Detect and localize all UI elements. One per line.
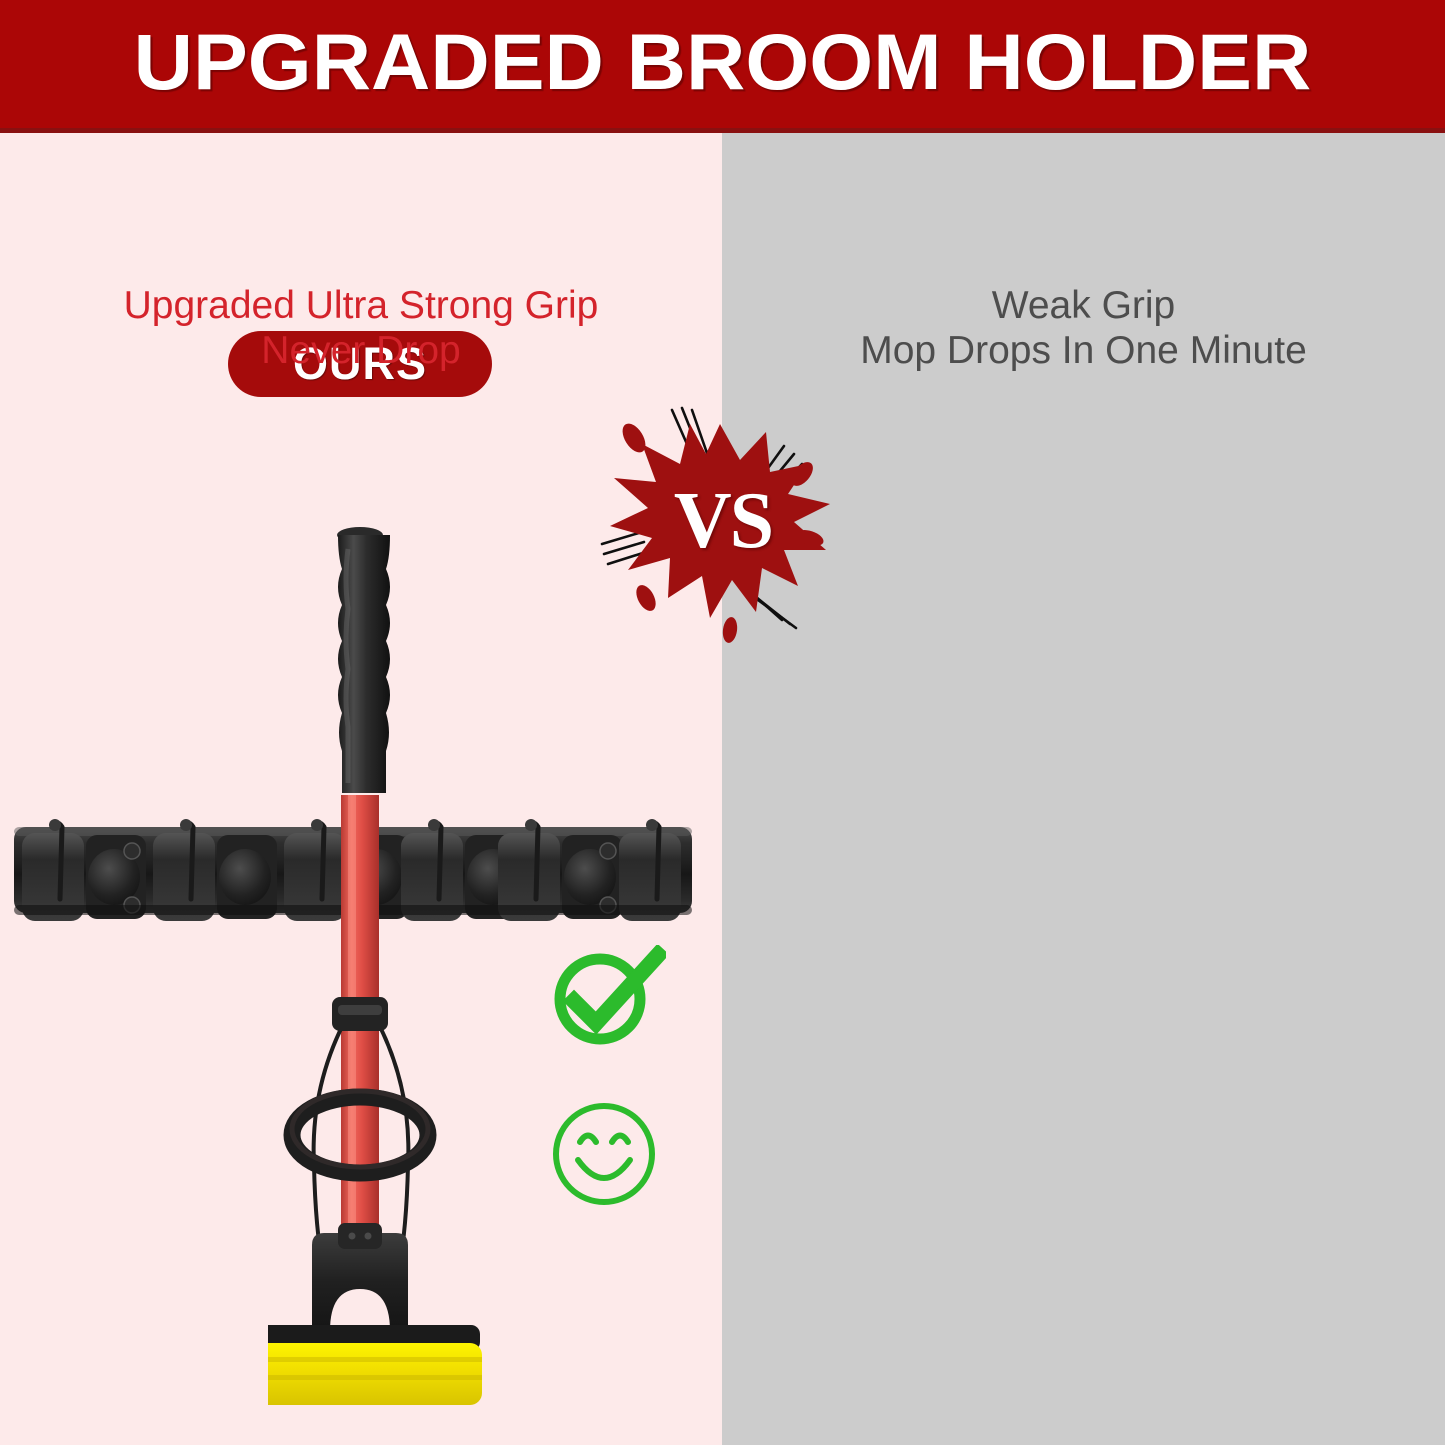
- mop-collar-clamp: [332, 997, 388, 1031]
- versus-splash: VS: [598, 398, 848, 643]
- check-circle-icon: [548, 945, 666, 1049]
- subtitle-ours: Upgraded Ultra Strong Grip Never Drop: [0, 283, 722, 373]
- versus-label: VS: [598, 476, 848, 567]
- mop-sponge-head: [268, 1325, 482, 1405]
- subtitle-others-line1: Weak Grip: [722, 283, 1445, 328]
- subtitle-ours-line1: Upgraded Ultra Strong Grip: [0, 283, 722, 328]
- product-comparison-image: UPGRADED BROOM HOLDER: [0, 0, 1445, 1445]
- subtitle-others-line2: Mop Drops In One Minute: [722, 328, 1445, 373]
- page-title: UPGRADED BROOM HOLDER: [0, 16, 1445, 108]
- header-banner: UPGRADED BROOM HOLDER: [0, 0, 1445, 133]
- mop-handle-grip: [337, 527, 390, 793]
- subtitle-ours-line2: Never Drop: [0, 328, 722, 373]
- mop-head-bracket: [312, 1223, 408, 1331]
- mop-ours: [268, 523, 588, 1423]
- subtitle-others: Weak Grip Mop Drops In One Minute: [722, 283, 1445, 373]
- smiley-happy-icon: [548, 1098, 660, 1210]
